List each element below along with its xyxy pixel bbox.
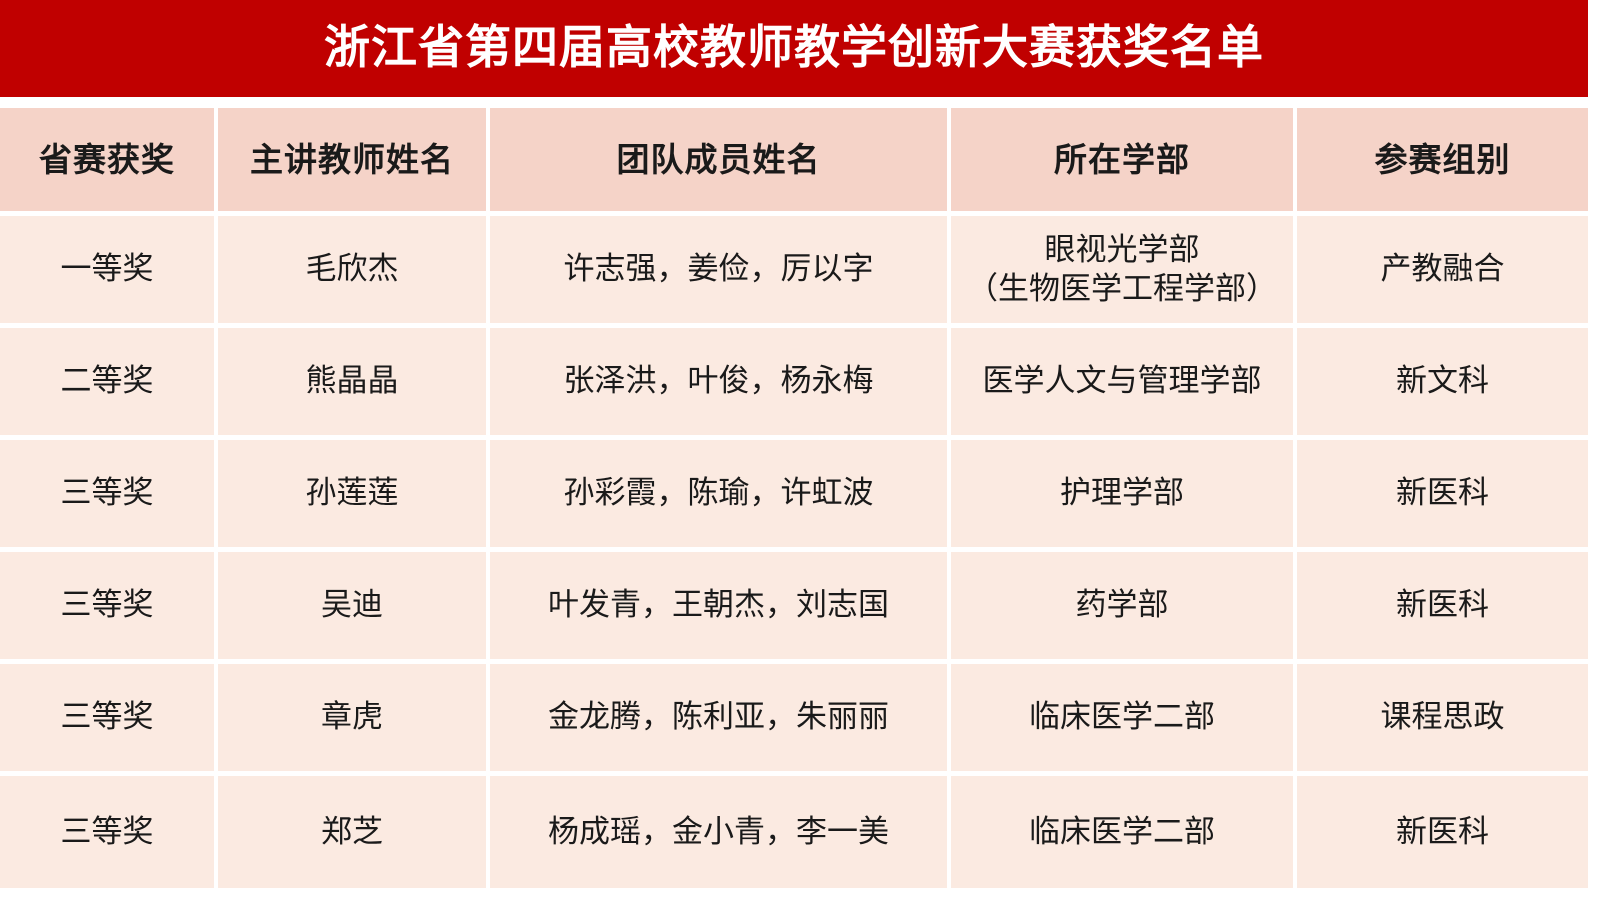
cell-group: 新医科 bbox=[1297, 440, 1588, 552]
award-table: 省赛获奖 主讲教师姓名 团队成员姓名 所在学部 参赛组别 一等奖 毛欣杰 许志强… bbox=[0, 108, 1588, 888]
cell-dept: 医学人文与管理学部 bbox=[951, 328, 1297, 440]
cell-dept: 眼视光学部 （生物医学工程学部） bbox=[951, 216, 1297, 328]
table-row: 三等奖 章虎 金龙腾，陈利亚，朱丽丽 临床医学二部 课程思政 bbox=[0, 664, 1588, 776]
cell-members: 孙彩霞，陈瑜，许虹波 bbox=[490, 440, 951, 552]
table-header: 省赛获奖 主讲教师姓名 团队成员姓名 所在学部 参赛组别 bbox=[0, 108, 1588, 216]
cell-award: 一等奖 bbox=[0, 216, 218, 328]
cell-lead: 毛欣杰 bbox=[218, 216, 490, 328]
cell-lead: 熊晶晶 bbox=[218, 328, 490, 440]
cell-members: 许志强，姜俭，厉以字 bbox=[490, 216, 951, 328]
cell-award: 三等奖 bbox=[0, 552, 218, 664]
cell-group: 新文科 bbox=[1297, 328, 1588, 440]
cell-members: 叶发青，王朝杰，刘志国 bbox=[490, 552, 951, 664]
cell-award: 三等奖 bbox=[0, 776, 218, 888]
cell-dept: 临床医学二部 bbox=[951, 776, 1297, 888]
table-row: 一等奖 毛欣杰 许志强，姜俭，厉以字 眼视光学部 （生物医学工程学部） 产教融合 bbox=[0, 216, 1588, 328]
table-body: 一等奖 毛欣杰 许志强，姜俭，厉以字 眼视光学部 （生物医学工程学部） 产教融合… bbox=[0, 216, 1588, 888]
cell-group: 产教融合 bbox=[1297, 216, 1588, 328]
table-row: 三等奖 郑芝 杨成瑶，金小青，李一美 临床医学二部 新医科 bbox=[0, 776, 1588, 888]
cell-dept: 护理学部 bbox=[951, 440, 1297, 552]
table-row: 三等奖 吴迪 叶发青，王朝杰，刘志国 药学部 新医科 bbox=[0, 552, 1588, 664]
cell-group: 新医科 bbox=[1297, 552, 1588, 664]
cell-lead: 孙莲莲 bbox=[218, 440, 490, 552]
cell-dept: 药学部 bbox=[951, 552, 1297, 664]
page-title: 浙江省第四届高校教师教学创新大赛获奖名单 bbox=[324, 24, 1264, 70]
table-row: 三等奖 孙莲莲 孙彩霞，陈瑜，许虹波 护理学部 新医科 bbox=[0, 440, 1588, 552]
column-header-group: 参赛组别 bbox=[1297, 108, 1588, 216]
column-header-dept: 所在学部 bbox=[951, 108, 1297, 216]
table-row: 二等奖 熊晶晶 张泽洪，叶俊，杨永梅 医学人文与管理学部 新文科 bbox=[0, 328, 1588, 440]
cell-dept: 临床医学二部 bbox=[951, 664, 1297, 776]
cell-lead: 章虎 bbox=[218, 664, 490, 776]
table-header-row: 省赛获奖 主讲教师姓名 团队成员姓名 所在学部 参赛组别 bbox=[0, 108, 1588, 216]
column-header-members: 团队成员姓名 bbox=[490, 108, 951, 216]
cell-lead: 郑芝 bbox=[218, 776, 490, 888]
cell-award: 三等奖 bbox=[0, 664, 218, 776]
cell-award: 二等奖 bbox=[0, 328, 218, 440]
cell-members: 张泽洪，叶俊，杨永梅 bbox=[490, 328, 951, 440]
cell-award: 三等奖 bbox=[0, 440, 218, 552]
award-list-page: 浙江省第四届高校教师教学创新大赛获奖名单 省赛获奖 主讲教师姓名 团队成员姓名 … bbox=[0, 0, 1608, 903]
cell-members: 杨成瑶，金小青，李一美 bbox=[490, 776, 951, 888]
cell-group: 课程思政 bbox=[1297, 664, 1588, 776]
column-header-lead: 主讲教师姓名 bbox=[218, 108, 490, 216]
cell-lead: 吴迪 bbox=[218, 552, 490, 664]
column-header-award: 省赛获奖 bbox=[0, 108, 218, 216]
cell-members: 金龙腾，陈利亚，朱丽丽 bbox=[490, 664, 951, 776]
title-banner: 浙江省第四届高校教师教学创新大赛获奖名单 bbox=[0, 0, 1588, 97]
cell-group: 新医科 bbox=[1297, 776, 1588, 888]
